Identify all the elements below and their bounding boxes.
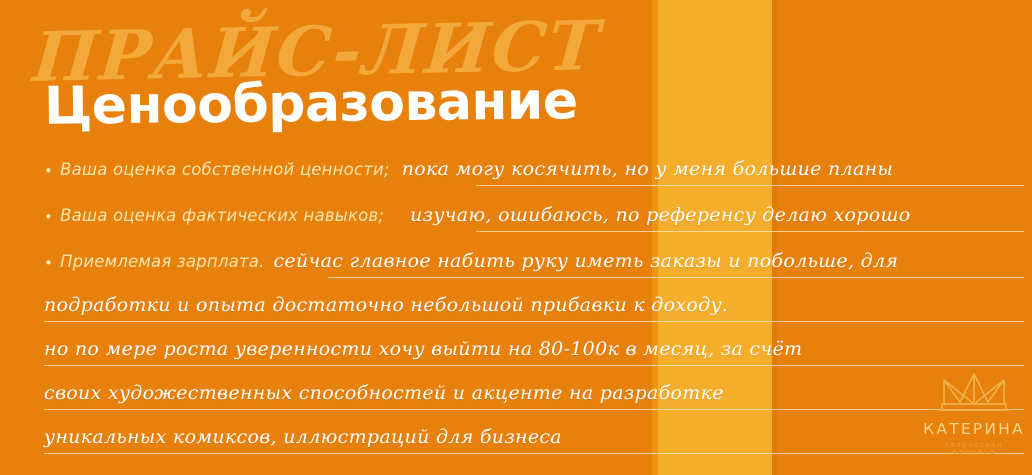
answer-row-5: но по мере роста уверенности хочу выйти …	[0, 338, 1032, 378]
answer-rule-2	[476, 231, 1024, 232]
page-title: Ценообразование	[44, 75, 578, 133]
answer-line-6: своих художественных способностей и акце…	[0, 382, 724, 404]
bullet-item-2-label: Ваша оценка фактических навыков;	[60, 206, 384, 225]
bullet-item-3: •Приемлемая зарплата.	[0, 252, 264, 272]
answer-line-7: уникальных комиксов, иллюстраций для биз…	[0, 426, 562, 448]
answer-rule-4	[44, 321, 1024, 322]
bullet-item-2: •Ваша оценка фактических навыков;	[0, 206, 384, 226]
answer-rule-5	[44, 365, 1024, 366]
brand-tagline: творческая единица	[922, 442, 1026, 456]
answer-rule-1	[476, 185, 1024, 186]
answer-line-3: сейчас главное набить руку иметь заказы …	[273, 250, 898, 272]
bullet-row-3: •Приемлемая зарплата. сейчас главное наб…	[0, 250, 1032, 290]
answer-line-4: подработки и опыта достаточно небольшой …	[0, 294, 728, 316]
brand-name: КАТЕРИНА	[922, 422, 1026, 438]
answer-line-1: пока могу косячить, но у меня большие пл…	[402, 158, 893, 180]
bullet-item-1: •Ваша оценка собственной ценности;	[0, 160, 390, 180]
answer-row-7: уникальных комиксов, иллюстраций для биз…	[0, 426, 1032, 466]
answer-row-4: подработки и опыта достаточно небольшой …	[0, 294, 1032, 334]
brand-logo: КАТЕРИНА творческая единица	[922, 372, 1026, 456]
answer-rule-6	[44, 409, 1024, 410]
answer-rule-7	[44, 453, 1024, 454]
crown-icon	[936, 372, 1012, 418]
bullet-item-1-label: Ваша оценка собственной ценности;	[60, 160, 390, 179]
content-body: •Ваша оценка собственной ценности; пока …	[0, 152, 1032, 475]
answer-rule-3	[328, 277, 1024, 278]
bullet-dot-icon: •	[44, 254, 53, 272]
answer-line-5: но по мере роста уверенности хочу выйти …	[0, 338, 802, 360]
answer-row-6: своих художественных способностей и акце…	[0, 382, 1032, 422]
bullet-row-1: •Ваша оценка собственной ценности; пока …	[0, 158, 1032, 198]
bullet-item-3-label: Приемлемая зарплата.	[60, 252, 264, 271]
bullet-dot-icon: •	[44, 162, 53, 180]
bullet-dot-icon: •	[44, 208, 53, 226]
bullet-row-2: •Ваша оценка фактических навыков; изучаю…	[0, 204, 1032, 244]
answer-line-2: изучаю, ошибаюсь, по референсу делаю хор…	[410, 204, 910, 226]
slide: ПРАЙС-ЛИСТ Ценообразование •Ваша оценка …	[0, 0, 1032, 475]
